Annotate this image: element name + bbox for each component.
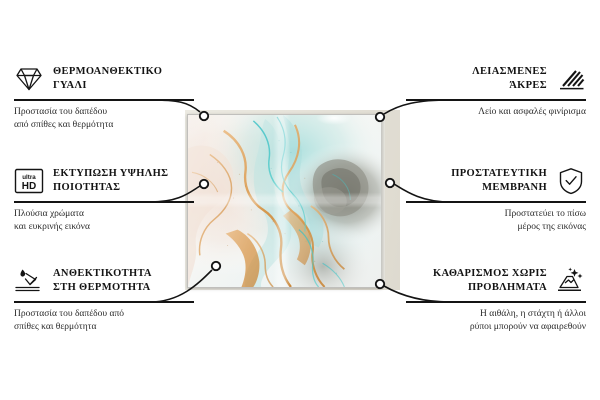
product-image xyxy=(185,110,400,290)
feature-desc-line1: Λείο και ασφαλές φινίρισμα xyxy=(478,107,586,117)
feature-description: Προστατεύει το πίσω μέρος της εικόνας xyxy=(406,208,586,234)
feature-heading-row: ΑΝΘΕΚΤΙΚΟΤΗΤΑ ΣΤΗ ΘΕΡΜΟΤΗΤΑ xyxy=(14,264,194,298)
feature-desc-line2: σπίθες και θερμότητα xyxy=(14,322,96,332)
feature-heading-row: ΠΡΟΣΤΑΤΕΥΤΙΚΗ ΜΕΜΒΡΑΝΗ xyxy=(406,164,586,198)
feature-heat-resistance: ΑΝΘΕΚΤΙΚΟΤΗΤΑ ΣΤΗ ΘΕΡΜΟΤΗΤΑ Προστασία το… xyxy=(14,264,194,334)
svg-text:HD: HD xyxy=(22,181,36,192)
feature-title-line1: ΕΚΤΥΠΩΣΗ ΥΨΗΛΗΣ xyxy=(53,168,168,179)
feature-title-line2: ΆΚΡΕΣ xyxy=(509,80,547,91)
diamond-icon xyxy=(14,64,44,94)
feature-title: ΠΡΟΣΤΑΤΕΥΤΙΚΗ ΜΕΜΒΡΑΝΗ xyxy=(451,167,547,195)
feature-divider xyxy=(406,201,586,203)
feature-desc-line2: ρύποι μπορούν να αφαιρεθούν xyxy=(470,322,586,332)
feature-title-line2: ΓΥΑΛΙ xyxy=(53,80,87,91)
feature-divider xyxy=(14,201,194,203)
feature-divider xyxy=(14,99,194,101)
feature-desc-line2: μέρος της εικόνας xyxy=(517,222,586,232)
feature-title-line1: ΘΕΡΜΟΑΝΘΕΚΤΙΚΟ xyxy=(53,66,162,77)
svg-text:ultra: ultra xyxy=(22,174,36,181)
feature-desc-line1: Πλούσια χρώματα xyxy=(14,209,84,219)
feature-title-line1: ΚΑΘΑΡΙΣΜΟΣ ΧΩΡΙΣ xyxy=(433,268,547,279)
feature-heat-resistant-glass: ΘΕΡΜΟΑΝΘΕΚΤΙΚΟ ΓΥΑΛΙ Προστασία του δαπέδ… xyxy=(14,62,194,132)
feature-title: ΑΝΘΕΚΤΙΚΟΤΗΤΑ ΣΤΗ ΘΕΡΜΟΤΗΤΑ xyxy=(53,267,152,295)
feature-polished-edges: ΛΕΙΑΣΜΕΝΕΣ ΆΚΡΕΣ Λείο και ασφαλές φινίρι… xyxy=(406,62,586,119)
feature-heading-row: ΛΕΙΑΣΜΕΝΕΣ ΆΚΡΕΣ xyxy=(406,62,586,96)
feature-heading-row: ultra HD ΕΚΤΥΠΩΣΗ ΥΨΗΛΗΣ ΠΟΙΟΤΗΤΑΣ xyxy=(14,164,194,198)
glass-splashback-panel xyxy=(187,114,382,288)
feature-description: Προστασία του δαπέδου από σπίθες και θερ… xyxy=(14,106,194,132)
feature-description: Πλούσια χρώματα και ευκρινής εικόνα xyxy=(14,208,194,234)
feature-desc-line1: Η αιθάλη, η στάχτη ή άλλοι xyxy=(480,309,586,319)
feature-desc-line1: Προστασία του δαπέδου από xyxy=(14,309,124,319)
feature-high-quality-print: ultra HD ΕΚΤΥΠΩΣΗ ΥΨΗΛΗΣ ΠΟΙΟΤΗΤΑΣ Πλούσ… xyxy=(14,164,194,234)
feature-desc-line1: Προστατεύει το πίσω xyxy=(505,209,586,219)
abstract-marble-artwork xyxy=(188,115,381,287)
feature-title: ΕΚΤΥΠΩΣΗ ΥΨΗΛΗΣ ΠΟΙΟΤΗΤΑΣ xyxy=(53,167,168,195)
feature-heading-row: ΘΕΡΜΟΑΝΘΕΚΤΙΚΟ ΓΥΑΛΙ xyxy=(14,62,194,96)
feature-desc-line2: από σπίθες και θερμότητα xyxy=(14,120,113,130)
feature-divider xyxy=(406,99,586,101)
feature-description: Λείο και ασφαλές φινίρισμα xyxy=(406,106,586,119)
feature-desc-line1: Προστασία του δαπέδου xyxy=(14,107,107,117)
feature-title: ΘΕΡΜΟΑΝΘΕΚΤΙΚΟ ΓΥΑΛΙ xyxy=(53,65,162,93)
panel-edge-highlight xyxy=(381,114,385,288)
feature-title-line2: ΜΕΜΒΡΑΝΗ xyxy=(482,182,547,193)
feature-title-line1: ΛΕΙΑΣΜΕΝΕΣ xyxy=(472,66,547,77)
feature-description: Προστασία του δαπέδου από σπίθες και θερ… xyxy=(14,308,194,334)
heat-resistance-icon xyxy=(14,266,44,296)
feature-easy-cleaning: ΚΑΘΑΡΙΣΜΟΣ ΧΩΡΙΣ ΠΡΟΒΛΗΜΑΤΑ Η αιθάλη, η … xyxy=(406,264,586,334)
feature-title: ΚΑΘΑΡΙΣΜΟΣ ΧΩΡΙΣ ΠΡΟΒΛΗΜΑΤΑ xyxy=(433,267,547,295)
feature-title-line1: ΠΡΟΣΤΑΤΕΥΤΙΚΗ xyxy=(451,168,547,179)
feature-description: Η αιθάλη, η στάχτη ή άλλοι ρύποι μπορούν… xyxy=(406,308,586,334)
polished-edges-icon xyxy=(556,64,586,94)
easy-clean-icon xyxy=(556,266,586,296)
feature-heading-row: ΚΑΘΑΡΙΣΜΟΣ ΧΩΡΙΣ ΠΡΟΒΛΗΜΑΤΑ xyxy=(406,264,586,298)
feature-divider xyxy=(406,301,586,303)
ultra-hd-icon: ultra HD xyxy=(14,166,44,196)
feature-protective-membrane: ΠΡΟΣΤΑΤΕΥΤΙΚΗ ΜΕΜΒΡΑΝΗ Προστατεύει το πί… xyxy=(406,164,586,234)
feature-title-line2: ΠΡΟΒΛΗΜΑΤΑ xyxy=(468,282,547,293)
shield-check-icon xyxy=(556,166,586,196)
feature-title-line1: ΑΝΘΕΚΤΙΚΟΤΗΤΑ xyxy=(53,268,152,279)
feature-divider xyxy=(14,301,194,303)
infographic-stage: ΘΕΡΜΟΑΝΘΕΚΤΙΚΟ ΓΥΑΛΙ Προστασία του δαπέδ… xyxy=(0,0,600,400)
feature-title: ΛΕΙΑΣΜΕΝΕΣ ΆΚΡΕΣ xyxy=(472,65,547,93)
feature-title-line2: ΣΤΗ ΘΕΡΜΟΤΗΤΑ xyxy=(53,282,151,293)
feature-title-line2: ΠΟΙΟΤΗΤΑΣ xyxy=(53,182,120,193)
feature-desc-line2: και ευκρινής εικόνα xyxy=(14,222,90,232)
